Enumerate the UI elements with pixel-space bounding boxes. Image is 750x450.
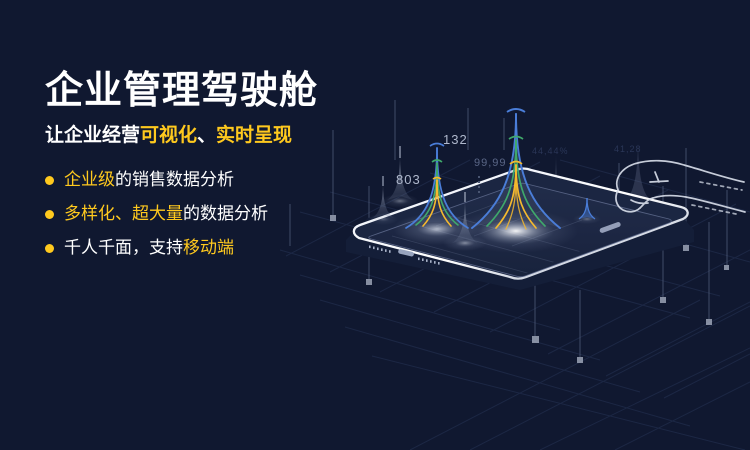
promo-banner: 132 803 99,99 44,44% 41,28 企业管理驾驶舱 让企业经营…	[0, 0, 750, 450]
charging-port	[398, 249, 415, 257]
list-item-rest: 的销售数据分析	[115, 170, 234, 189]
list-item: 多样化、超大量的数据分析	[45, 199, 365, 229]
list-item-label: 企业级的销售数据分析	[64, 169, 234, 191]
subtitle-highlight-1: 可视化	[140, 125, 197, 146]
data-label-803: 803	[396, 172, 421, 187]
subtitle-highlight-2: 实时呈现	[216, 125, 292, 146]
data-label-4128: 41,28	[614, 144, 642, 154]
page-title: 企业管理驾驶舱	[45, 68, 365, 114]
funnel-grey-b	[452, 192, 478, 243]
list-item-plain: 千人千面，支持	[64, 238, 183, 257]
pointing-hand-icon	[616, 161, 745, 214]
data-label-132: 132	[443, 132, 468, 147]
list-item: 千人千面，支持移动端	[45, 233, 365, 263]
dot-icon	[45, 244, 54, 253]
feature-list: 企业级的销售数据分析 多样化、超大量的数据分析 千人千面，支持移动端	[45, 165, 365, 263]
list-item-rest: 的数据分析	[183, 204, 268, 223]
list-item-highlight: 多样化、超大量	[64, 204, 183, 223]
glow-pools	[368, 194, 601, 253]
speaker-grille	[369, 246, 440, 265]
list-item-highlight: 移动端	[183, 238, 234, 257]
funnel-center	[472, 109, 560, 229]
data-label-9999: 99,99	[474, 157, 507, 169]
list-item: 企业级的销售数据分析	[45, 165, 365, 195]
dot-icon	[45, 210, 54, 219]
side-button	[599, 221, 621, 233]
copy-block: 企业管理驾驶舱 让企业经营可视化、实时呈现 企业级的销售数据分析 多样化、超大量…	[45, 68, 365, 267]
funnel-grey-c	[372, 176, 394, 218]
subtitle-separator: 、	[197, 125, 216, 146]
subtitle: 让企业经营可视化、实时呈现	[45, 123, 365, 149]
value-tick-marks	[478, 176, 480, 193]
dot-icon	[45, 176, 54, 185]
list-item-highlight: 企业级	[64, 170, 115, 189]
list-item-label: 多样化、超大量的数据分析	[64, 203, 268, 225]
subtitle-part-1: 让企业经营	[45, 125, 140, 146]
data-label-4444: 44,44%	[532, 146, 569, 156]
list-item-label: 千人千面，支持移动端	[64, 237, 234, 259]
funnel-small-blue	[579, 198, 595, 219]
